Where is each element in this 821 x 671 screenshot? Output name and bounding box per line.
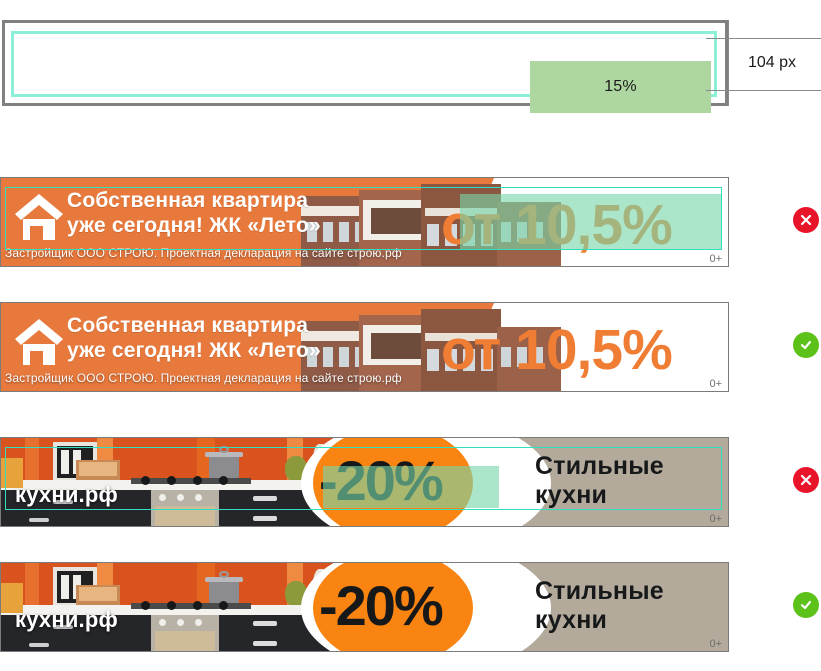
banner-size-diagram: 15% xyxy=(2,20,728,106)
dimension-line-bottom xyxy=(706,90,821,91)
dimension-label: 104 px xyxy=(748,54,796,72)
status-badge xyxy=(793,592,819,618)
cross-circle-icon xyxy=(799,473,813,487)
kitchen-logo: кухни.рф xyxy=(15,482,118,508)
kitchen-logo: кухни.рф xyxy=(15,607,118,633)
banner-preview[interactable]: Собственная квартира уже сегодня! ЖК «Ле… xyxy=(0,302,729,392)
age-rating-label: 0+ xyxy=(709,253,722,265)
realty-rate: от 10,5% xyxy=(441,311,672,389)
dimension-rule-vertical xyxy=(728,20,729,106)
age-rating-label: 0+ xyxy=(709,638,722,650)
kitchen-creative: кухни.рф -20% Стильные кухни 0+ xyxy=(1,563,728,651)
kitchen-creative: кухни.рф -20% Стильные кухни 0+ xyxy=(1,438,728,526)
status-badge xyxy=(793,467,819,493)
realty-rate: от 10,5% xyxy=(441,186,672,264)
diagram-highlight-block: 15% xyxy=(530,61,711,113)
banner-preview[interactable]: кухни.рф -20% Стильные кухни 0+ xyxy=(0,562,729,652)
realty-headline: Собственная квартира уже сегодня! ЖК «Ле… xyxy=(67,313,321,363)
banner-preview[interactable]: кухни.рф -20% Стильные кухни 0+ xyxy=(0,437,729,527)
age-rating-label: 0+ xyxy=(709,378,722,390)
kitchen-headline: Стильные кухни xyxy=(535,452,664,510)
house-icon xyxy=(13,317,65,372)
banner-preview[interactable]: Собственная квартира уже сегодня! ЖК «Ле… xyxy=(0,177,729,267)
status-badge xyxy=(793,207,819,233)
realty-creative: Собственная квартира уже сегодня! ЖК «Ле… xyxy=(1,303,728,391)
realty-headline: Собственная квартира уже сегодня! ЖК «Ле… xyxy=(67,188,321,238)
kitchen-headline: Стильные кухни xyxy=(535,577,664,635)
age-rating-label: 0+ xyxy=(709,513,722,525)
house-icon xyxy=(13,192,65,247)
cross-circle-icon xyxy=(799,213,813,227)
dimension-line-top xyxy=(706,38,821,39)
realty-legal-text: Застройщик ООО СТРОЮ. Проектная декларац… xyxy=(5,246,402,260)
check-circle-icon xyxy=(799,338,813,352)
realty-creative: Собственная квартира уже сегодня! ЖК «Ле… xyxy=(1,178,728,266)
diagram-percent-label: 15% xyxy=(604,78,637,96)
discount-label: -20% xyxy=(319,448,442,514)
discount-label: -20% xyxy=(319,573,442,639)
check-circle-icon xyxy=(799,598,813,612)
status-badge xyxy=(793,332,819,358)
realty-legal-text: Застройщик ООО СТРОЮ. Проектная декларац… xyxy=(5,371,402,385)
